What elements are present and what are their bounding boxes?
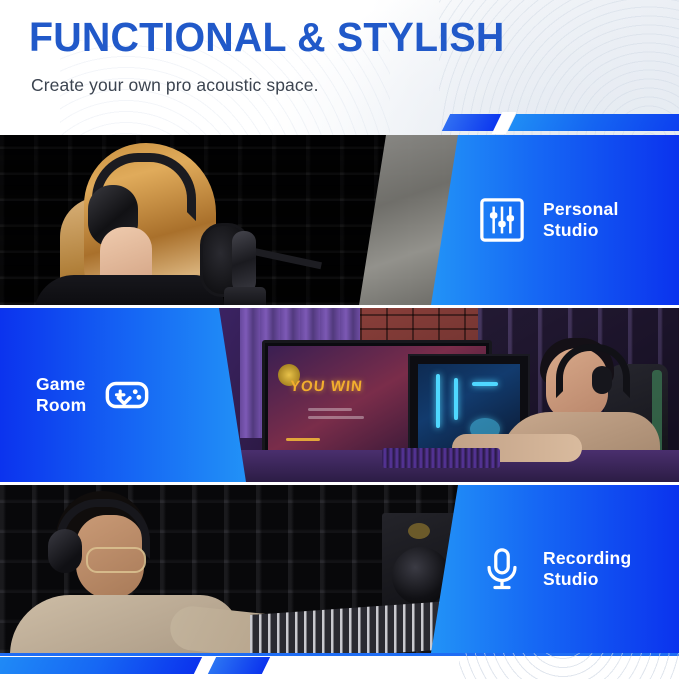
footer-accent-bar-small [208, 657, 270, 674]
badge-label-game-room: Game Room [36, 374, 86, 416]
panel-personal-studio: Personal Studio [0, 135, 679, 305]
studio-headphones-earcup [48, 529, 82, 573]
microphone-icon [479, 546, 525, 592]
speaker-tweeter [408, 523, 430, 539]
screen-detail-line [308, 416, 364, 419]
badge-personal-studio: Personal Studio [431, 135, 679, 305]
poster: FUNCTIONAL & STYLISH Create your own pro… [0, 0, 679, 679]
screen-progress-bar [286, 438, 320, 441]
badge-label-recording-studio: Recording Studio [543, 548, 631, 590]
footer-decorative-rings [459, 653, 679, 679]
header-accent-bar-large [508, 114, 679, 131]
condenser-microphone [232, 231, 256, 293]
panel-game-room: YOU WIN Ga [0, 308, 679, 482]
badge-game-room: Game Room [0, 308, 250, 482]
rgb-light-strip [436, 374, 440, 428]
rgb-keyboard [382, 448, 500, 468]
mixer-faders-icon [479, 197, 525, 243]
badge-label-personal-studio: Personal Studio [543, 199, 619, 241]
gamepad-icon [104, 372, 150, 418]
page-subtitle: Create your own pro acoustic space. [31, 74, 319, 96]
gaming-headset-earcup [592, 366, 612, 394]
footer-banner [0, 653, 679, 679]
footer-accent-bar-large [0, 657, 202, 674]
singer-torso [34, 275, 224, 305]
page-title: FUNCTIONAL & STYLISH [29, 14, 504, 60]
monitor-screen-text: YOU WIN [289, 378, 364, 395]
header-banner: FUNCTIONAL & STYLISH Create your own pro… [0, 0, 679, 135]
eyeglasses [86, 547, 146, 573]
mic-shock-mount [224, 287, 266, 305]
rgb-light-strip [454, 378, 458, 420]
panel-recording-studio: Recording Studio [0, 485, 679, 653]
screen-detail-line [308, 408, 352, 411]
rgb-light-strip [472, 382, 498, 386]
badge-recording-studio: Recording Studio [431, 485, 679, 653]
